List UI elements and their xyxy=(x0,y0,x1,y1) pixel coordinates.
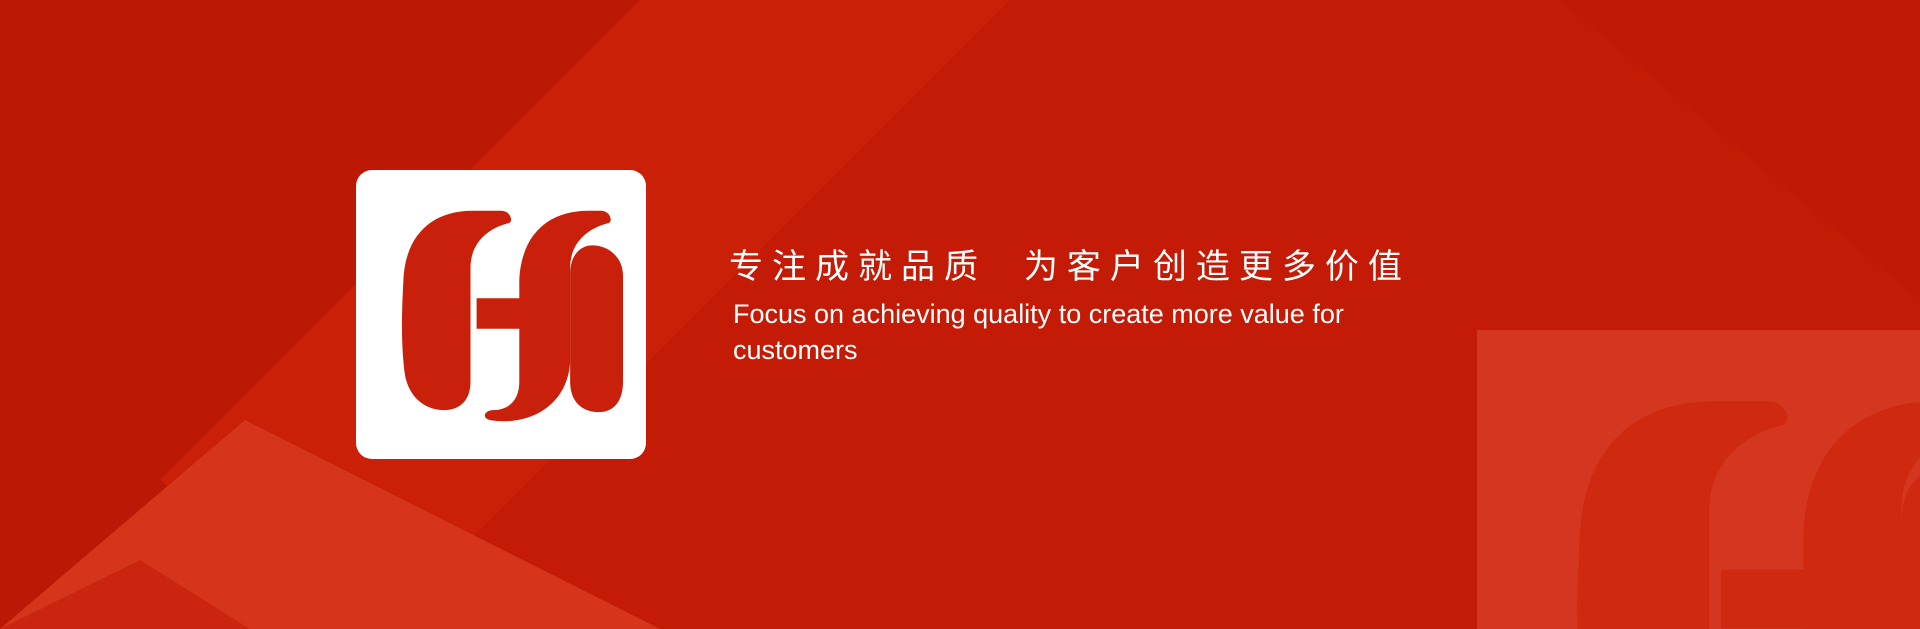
hero-banner: 专注成就品质 为客户创造更多价值 Focus on achieving qual… xyxy=(0,0,1920,629)
slogan-block: 专注成就品质 为客户创造更多价值 Focus on achieving qual… xyxy=(729,246,1411,368)
watermark-logo xyxy=(1477,330,1920,629)
watermark-h-monogram-icon xyxy=(1533,366,1920,629)
slogan-chinese: 专注成就品质 为客户创造更多价值 xyxy=(729,246,1411,288)
watermark-plate xyxy=(1477,330,1920,629)
slogan-english-line1: Focus on achieving quality to create mor… xyxy=(733,299,1305,329)
slogan-english: Focus on achieving quality to create mor… xyxy=(733,296,1373,368)
background-wedge-top-right xyxy=(1560,0,1920,300)
company-logo[interactable] xyxy=(356,170,646,459)
logo-h-monogram-icon xyxy=(379,192,623,437)
background-triangle-mid xyxy=(0,560,250,629)
background-wedge-bottom-left xyxy=(0,330,320,629)
